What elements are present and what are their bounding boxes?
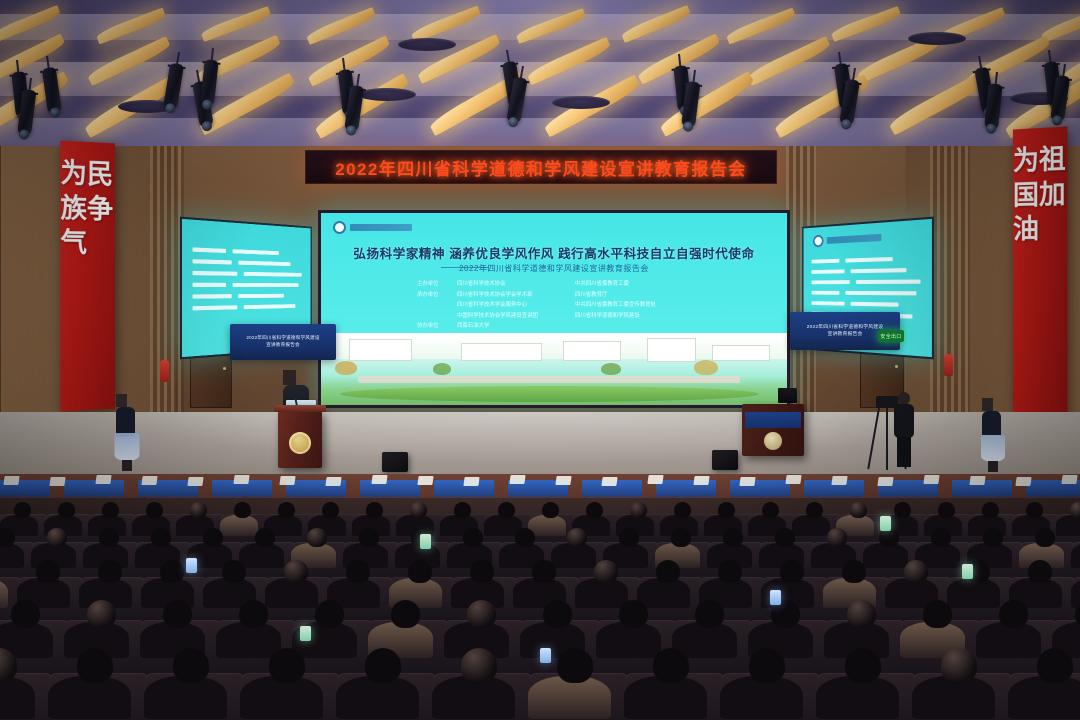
audience-member-head [463, 528, 483, 547]
hanging-stage-light [1042, 49, 1056, 51]
led-banner-text: 2022年四川省科学道德和学风建设宣讲教育报告会 [335, 155, 746, 180]
audience-member-head [532, 560, 556, 583]
audience-member-head [366, 502, 383, 518]
audience-member-head [87, 600, 116, 628]
audience-member-head [1028, 560, 1052, 583]
desk-paper [187, 477, 203, 486]
audience-member-head [47, 528, 67, 547]
ceiling-vent [358, 88, 416, 101]
audience-member-head [470, 560, 494, 583]
audience-member-head [315, 600, 344, 628]
blue-banner-right-line1: 2022年四川省科学道德和学风建设 [807, 324, 883, 331]
university-seal-icon [289, 432, 311, 454]
presiding-table [742, 404, 804, 456]
audience-member-head [98, 560, 122, 583]
slide-detail-row: 协办单位西南石油大学 [417, 321, 717, 332]
slide-detail-row: 承办单位四川省科学技术协会学会学术部四川省教育厅 [417, 290, 717, 301]
desk-paper [95, 475, 111, 484]
led-event-banner: 2022年四川省科学道德和学风建设宣讲教育报告会 [305, 150, 777, 184]
side-screen-list-row [192, 283, 304, 287]
audience-member-head [842, 560, 866, 583]
audience-phone-screen [880, 516, 891, 531]
audience-member-head [806, 502, 823, 518]
audience-member-head [102, 502, 119, 518]
audience-member-head [850, 502, 867, 518]
audience-member-head [163, 600, 192, 628]
audience-member-head [58, 502, 75, 518]
blue-banner-left-line1: 2022年四川省科学道德和学风建设 [246, 335, 319, 342]
audience-member-head [894, 502, 911, 518]
slide-detail-row: 中国科学技术协会学风建设宣讲团四川省科学道德和学风建设 [417, 311, 717, 322]
floor-monitor [712, 450, 738, 470]
side-screen-list-row [811, 291, 923, 296]
desk-paper [877, 477, 893, 486]
audience-member-head [762, 502, 779, 518]
side-screen-list-row [192, 259, 304, 266]
slide-detail-label: 承办单位 [417, 290, 451, 301]
desk-paper [141, 476, 157, 485]
desk-paper [233, 475, 249, 484]
red-banner-left-text: 为民族争气 [60, 157, 115, 262]
audience-member-head [594, 560, 618, 583]
desk-panel [360, 480, 420, 497]
audience-member-head [718, 560, 742, 583]
audience-member-head [780, 560, 804, 583]
side-screen-list-row [811, 256, 923, 264]
audience-member-head [718, 502, 735, 518]
audience-phone-screen [540, 648, 551, 663]
audience-member-head [151, 528, 171, 547]
audience-member-head [630, 502, 647, 518]
slide-subtitle: 2022年四川省科学道德和学风建设宣讲教育报告会 [321, 263, 787, 274]
desk-paper [1061, 475, 1077, 484]
audience-member-head [982, 502, 999, 518]
audience-member-head [14, 502, 31, 518]
audience-member-head [653, 648, 689, 683]
exit-sign-text: 安全出口 [880, 333, 901, 340]
ceiling-vent [552, 96, 610, 109]
slide-organizer-details: 主办单位四川省科学技术协会中共四川省委教育工委承办单位四川省科学技术协会学会学术… [417, 279, 717, 332]
audience-member-head [11, 600, 40, 628]
audience-member-head [307, 528, 327, 547]
side-screen-list-row [192, 247, 304, 256]
audience-member-head [255, 528, 275, 547]
audience-member-head [190, 502, 207, 518]
audience-member-head [391, 600, 420, 628]
slide-detail-label [417, 300, 451, 311]
desk-paper [279, 476, 295, 485]
audience-member-head [723, 528, 743, 547]
audience-member-head [845, 648, 881, 683]
audience-member-head [284, 560, 308, 583]
usher-left [116, 394, 138, 472]
desk-paper [371, 475, 387, 484]
audience-member-head [656, 560, 680, 583]
slide-detail-col2: 中共四川省委教育工委宣传教育处 [575, 300, 687, 311]
audience-member-head [322, 502, 339, 518]
audience-member-head [365, 648, 401, 683]
audience-member-head [461, 648, 497, 683]
slide-detail-label: 协办单位 [417, 321, 451, 332]
desk-paper [739, 477, 755, 486]
slide-detail-col1: 中国科学技术协会学风建设宣讲团 [457, 311, 569, 322]
slide-detail-col2: 四川省科学道德和学风建设 [575, 311, 687, 322]
audience-phone-screen [420, 534, 431, 549]
audience-member-head [36, 560, 60, 583]
audience-member-head [1037, 648, 1073, 683]
hanging-stage-light [832, 51, 846, 53]
audience-member-head [346, 560, 370, 583]
side-screen-list-row [192, 294, 304, 299]
slide-detail-col1: 四川省科学技术协会 [457, 279, 569, 290]
slide-detail-row: 四川省科学技术学会服务中心中共四川省委教育工委宣传教育处 [417, 300, 717, 311]
slide-detail-label [417, 311, 451, 322]
audience-member-head [543, 600, 572, 628]
main-projection-screen: 弘扬科学家精神 涵养优良学风作风 践行高水平科技自立自强时代使命 2022年四川… [318, 210, 790, 408]
slide-detail-col1: 四川省科学技术学会服务中心 [457, 300, 569, 311]
audience-member-head [77, 648, 113, 683]
conference-hall-photo: 2022年四川省科学道德和学风建设宣讲教育报告会 弘扬科学家精神 涵养优良学风作… [0, 0, 1080, 720]
slide-title: 弘扬科学家精神 涵养优良学风作风 践行高水平科技自立自强时代使命 [321, 243, 787, 262]
audience-member-head [931, 528, 951, 547]
desk-paper [463, 477, 479, 486]
blue-banner-left: 2022年四川省科学道德和学风建设 宣讲教育报告会 [230, 324, 336, 360]
desk-paper [785, 475, 801, 484]
audience-seating-area [0, 498, 1080, 720]
side-screen-list-row [811, 268, 923, 274]
audience-member-head [269, 648, 305, 683]
desk-paper [555, 476, 571, 485]
slide-detail-col1: 西南石油大学 [457, 321, 569, 332]
ceiling-vent [908, 32, 966, 45]
blue-banner-right-line2: 宣讲教育报告会 [828, 331, 863, 338]
slide-detail-label: 主办单位 [417, 279, 451, 290]
audience-member-head [146, 502, 163, 518]
audience-member-head [619, 528, 639, 547]
desk-paper [693, 476, 709, 485]
desk-paper [923, 475, 939, 484]
usher-right [982, 398, 1004, 474]
audience-member-head [938, 502, 955, 518]
audience-member-head [173, 648, 209, 683]
ceiling [0, 0, 1080, 150]
audience-member [1008, 676, 1080, 719]
desk-paper [509, 475, 525, 484]
desk-paper [1015, 477, 1031, 486]
audience-member-head [983, 528, 1003, 547]
slide-detail-col2 [575, 321, 687, 332]
slide-detail-col2: 四川省教育厅 [575, 290, 687, 301]
blue-banner-left-line2: 宣讲教育报告会 [266, 342, 300, 349]
desk-paper [49, 477, 65, 486]
audience-member-head [749, 648, 785, 683]
red-banner-right: 为祖国加油 [1013, 126, 1068, 414]
desk-paper [647, 475, 663, 484]
fire-extinguisher [944, 354, 953, 376]
audience-phone-screen [770, 590, 781, 605]
red-banner-right-text: 为祖国加油 [1013, 143, 1068, 248]
audience-member-head [557, 648, 593, 683]
audience-member-head [222, 560, 246, 583]
audience-member-head [359, 528, 379, 547]
table-monitor [778, 388, 797, 403]
audience-phone-screen [962, 564, 973, 579]
side-screen-list-row [811, 279, 923, 284]
audience-member-head [674, 502, 691, 518]
slide-detail-col2: 中共四川省委教育工委 [575, 279, 687, 290]
fire-extinguisher [160, 360, 169, 382]
audience-member-head [1026, 502, 1043, 518]
floor-monitor [382, 452, 408, 472]
audience-member-head [203, 528, 223, 547]
audience-member-head [586, 502, 603, 518]
audience-member-head [695, 600, 724, 628]
desk-panel [64, 480, 124, 497]
audience-member-head [234, 502, 251, 518]
red-banner-left: 为民族争气 [60, 141, 115, 412]
videographer [892, 392, 918, 468]
audience-member-head [410, 502, 427, 518]
desk-paper [3, 476, 19, 485]
university-logo-icon [333, 221, 412, 234]
desk-paper [601, 477, 617, 486]
side-screen-list-row [192, 271, 304, 277]
audience-member-head [408, 560, 432, 583]
audience-member-head [827, 528, 847, 547]
desk-paper [969, 476, 985, 485]
hanging-stage-light [206, 47, 220, 48]
audience-member-head [454, 502, 471, 518]
audience-member-head [847, 600, 876, 628]
audience-member-head [0, 528, 15, 547]
audience-member-head [467, 600, 496, 628]
audience-member-head [775, 528, 795, 547]
side-screen-list-row [192, 304, 304, 310]
side-screen-list-row [811, 301, 923, 307]
audience-member-head [923, 600, 952, 628]
audience-member-head [941, 648, 977, 683]
ceiling-vent [398, 38, 456, 51]
audience-member-head [999, 600, 1028, 628]
side-screen-left-content [192, 247, 304, 317]
university-logo-icon [813, 231, 881, 248]
university-seal-icon [764, 432, 782, 450]
hanging-stage-light [172, 51, 186, 53]
audience-member-head [99, 528, 119, 547]
desk-paper [325, 477, 341, 486]
audience-member-head [278, 502, 295, 518]
audience-phone-screen [186, 558, 197, 573]
campus-panorama-image [321, 333, 787, 405]
slide-detail-col1: 四川省科学技术协会学会学术部 [457, 290, 569, 301]
slide-detail-row: 主办单位四川省科学技术协会中共四川省委教育工委 [417, 279, 717, 290]
desk-paper [831, 476, 847, 485]
audience-member-head [1035, 528, 1055, 547]
audience-member-head [515, 528, 535, 547]
hanging-stage-light [500, 49, 514, 51]
audience-member-head [160, 560, 184, 583]
audience-member-head [498, 502, 515, 518]
audience-member-head [239, 600, 268, 628]
audience-phone-screen [300, 626, 311, 641]
audience-member-head [1070, 502, 1080, 518]
audience-member-head [671, 528, 691, 547]
audience-member-head [542, 502, 559, 518]
desk-paper [417, 476, 433, 485]
speaker-podium [278, 410, 322, 468]
exit-sign: 安全出口 [878, 330, 904, 342]
audience-member-head [619, 600, 648, 628]
hanging-stage-light [972, 55, 986, 57]
audience-member-head [567, 528, 587, 547]
audience-member-head [904, 560, 928, 583]
